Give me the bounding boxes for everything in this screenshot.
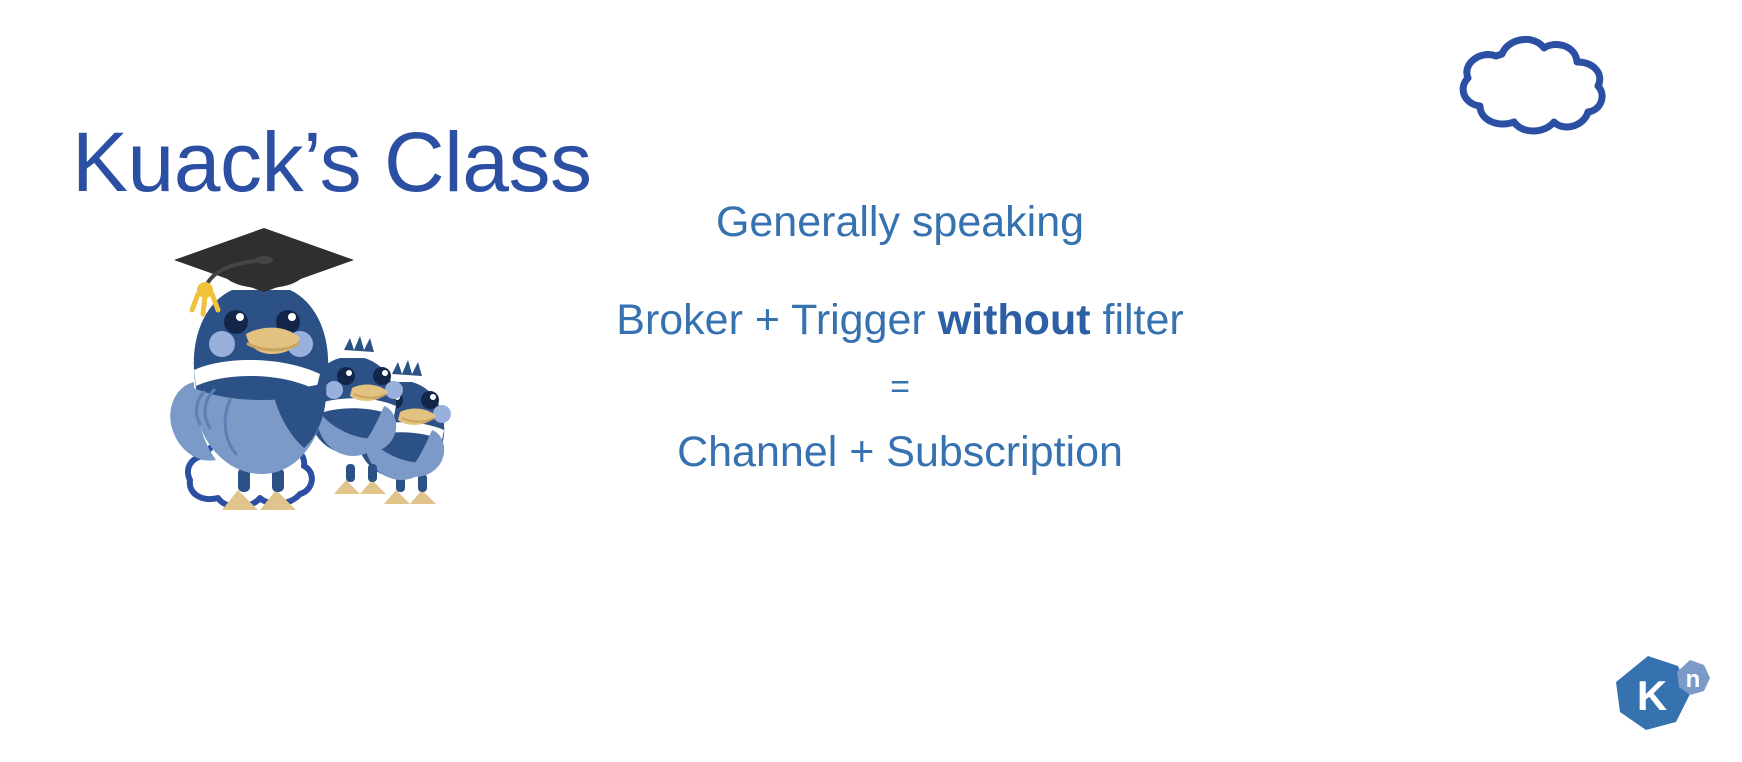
body-lead-line: Generally speaking	[540, 196, 1260, 250]
page-title: Kuack’s Class	[72, 118, 591, 206]
equation-operator: =	[540, 370, 1260, 404]
equation-right-side: Channel + Subscription	[540, 426, 1260, 480]
logo-secondary-letter: n	[1686, 666, 1701, 693]
knative-logo: K n	[1608, 648, 1718, 744]
cloud-icon	[1452, 28, 1612, 140]
logo-primary-letter: K	[1637, 672, 1667, 719]
mascot-illustration	[160, 222, 504, 522]
slide-body: Generally speaking Broker + Trigger with…	[540, 196, 1260, 479]
equation-left-suffix: filter	[1091, 296, 1184, 344]
equation-left-side: Broker + Trigger without filter	[540, 294, 1260, 348]
slide-canvas: Kuack’s Class	[0, 0, 1742, 762]
equation-left-prefix: Broker + Trigger	[616, 296, 937, 344]
equation-left-emphasis: without	[938, 296, 1091, 344]
